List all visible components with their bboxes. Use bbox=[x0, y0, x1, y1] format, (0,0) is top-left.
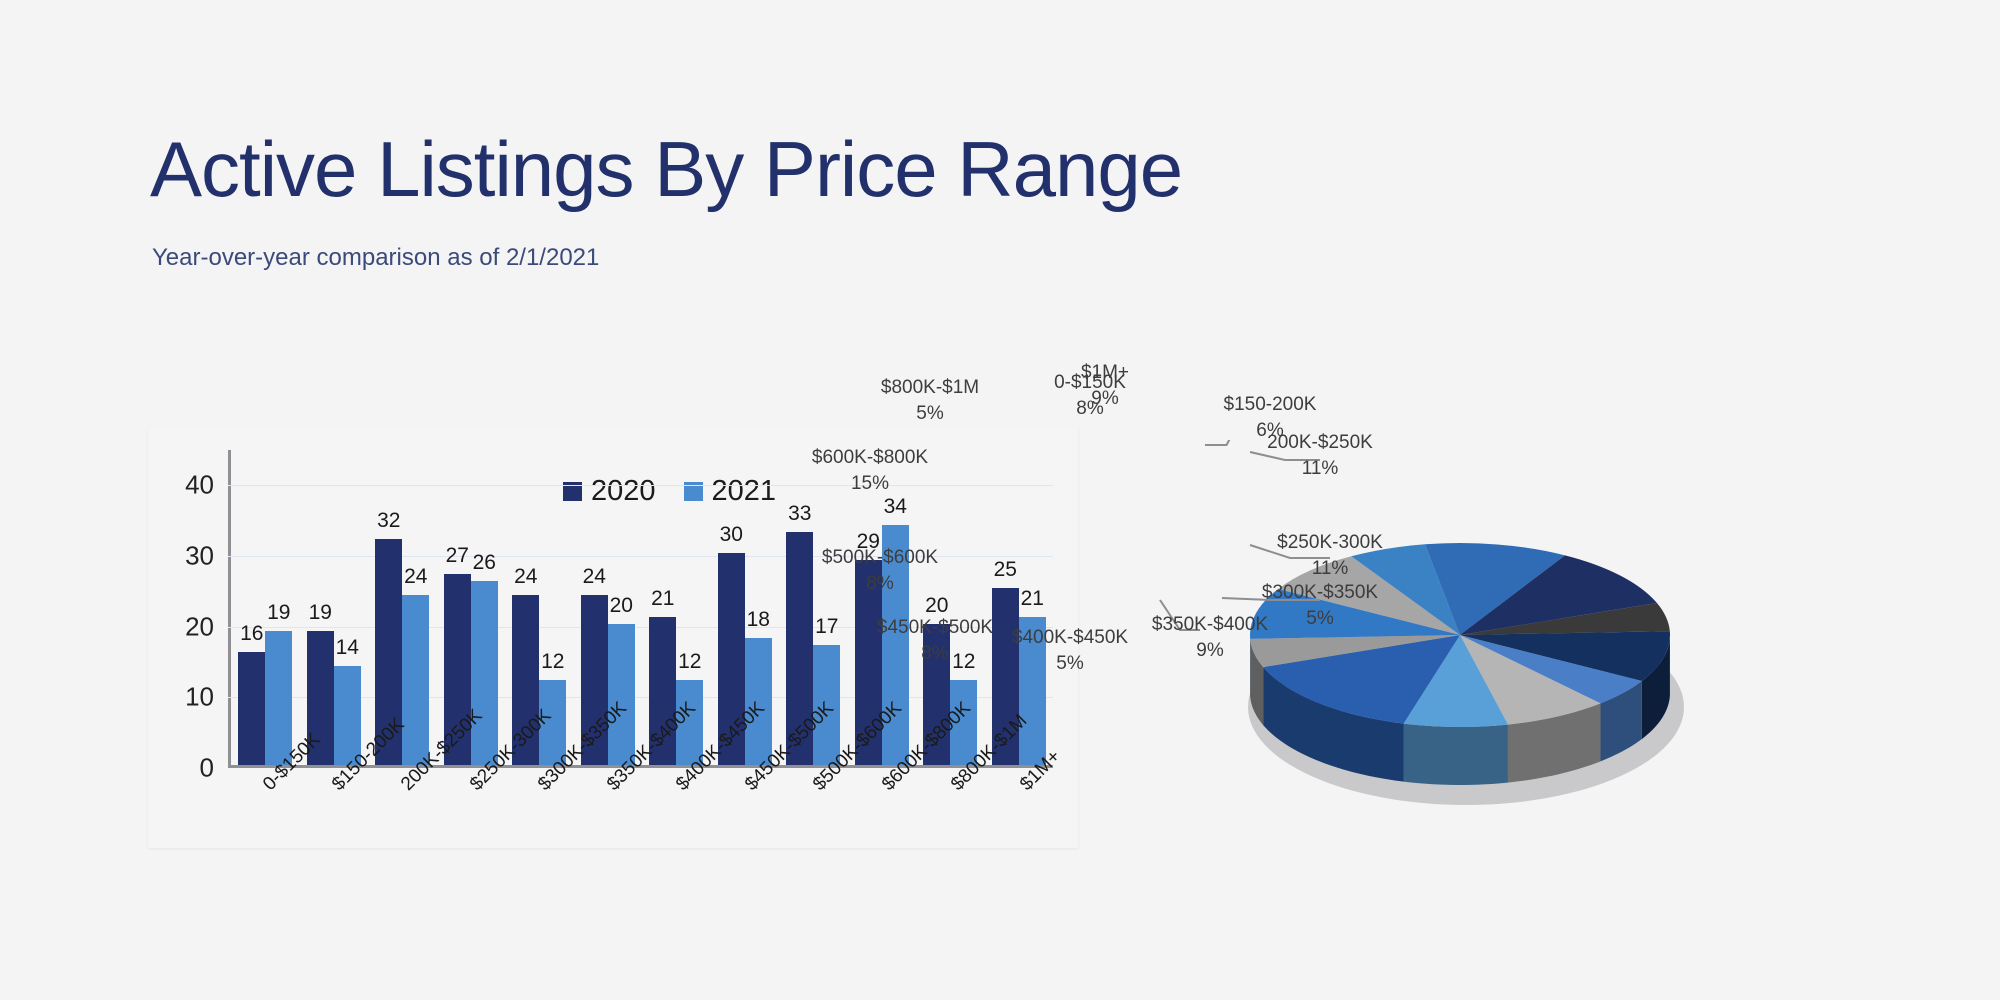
x-axis-label-cell: $150-200K bbox=[300, 776, 369, 896]
bar-groups: 1619191432242726241224202112301833172934… bbox=[231, 450, 1053, 765]
bar-rect bbox=[402, 595, 429, 765]
pie-slice-label-name: $800K-$1M bbox=[881, 375, 979, 401]
pie-slice-label: $300K-$350K5% bbox=[1262, 580, 1378, 631]
bar-value-label: 12 bbox=[541, 650, 564, 674]
pie-slice-label-name: $500K-$600K bbox=[822, 545, 938, 571]
bar-group: 3224 bbox=[368, 450, 437, 765]
bar-rect bbox=[265, 631, 292, 765]
pie-slice-label: $350K-$400K9% bbox=[1152, 612, 1268, 663]
bar-group: 1619 bbox=[231, 450, 300, 765]
pie-slice-label-name: $1M+ bbox=[1081, 360, 1129, 386]
bar-group: 1914 bbox=[300, 450, 369, 765]
bar-rect bbox=[471, 581, 498, 765]
bar-value-label: 27 bbox=[446, 544, 469, 568]
slide-canvas: Active Listings By Price Range Year-over… bbox=[0, 0, 2000, 1000]
pie-slice-label: $450K-$500K8% bbox=[877, 615, 993, 666]
pie-slice-label-name: 200K-$250K bbox=[1267, 430, 1373, 456]
pie-slice-label-name: $450K-$500K bbox=[877, 615, 993, 641]
bar-2021[interactable]: 19 bbox=[265, 450, 292, 765]
pie-slice-label-value: 15% bbox=[812, 471, 928, 497]
bar-value-label: 12 bbox=[678, 650, 701, 674]
pie-slice-label-name: $350K-$400K bbox=[1152, 612, 1268, 638]
bar-rect bbox=[608, 624, 635, 765]
x-axis-label-cell: $800K-$1M bbox=[919, 776, 988, 896]
pie-slice-label-value: 5% bbox=[1262, 606, 1378, 632]
x-axis-label-cell: $400K-$450K bbox=[644, 776, 713, 896]
x-axis-label-cell: $350K-$400K bbox=[575, 776, 644, 896]
bar-value-label: 17 bbox=[815, 615, 838, 639]
bar-2021[interactable]: 24 bbox=[402, 450, 429, 765]
page-title: Active Listings By Price Range bbox=[150, 130, 1182, 208]
bar-value-label: 34 bbox=[884, 495, 907, 519]
pie-slice-label-value: 5% bbox=[881, 401, 979, 427]
bar-value-label: 24 bbox=[583, 565, 606, 589]
bar-value-label: 24 bbox=[514, 565, 537, 589]
bar-value-label: 14 bbox=[336, 636, 359, 660]
pie-slice-label-name: $300K-$350K bbox=[1262, 580, 1378, 606]
bar-value-label: 19 bbox=[267, 601, 290, 625]
pie-slice-label-value: 9% bbox=[1081, 386, 1129, 412]
y-axis-tick-label: 20 bbox=[185, 611, 214, 642]
pie-slice-label-value: 9% bbox=[1152, 638, 1268, 664]
pie-slice-side bbox=[1404, 724, 1508, 785]
pie-slice-label: 200K-$250K11% bbox=[1267, 430, 1373, 481]
bar-2021[interactable]: 14 bbox=[334, 450, 361, 765]
pie-slice-label: $800K-$1M5% bbox=[881, 375, 979, 426]
pie-slice-label: $600K-$800K15% bbox=[812, 445, 928, 496]
pie-slice-label-name: $400K-$450K bbox=[1012, 625, 1128, 651]
pie-slice-label-value: 5% bbox=[1012, 651, 1128, 677]
bar-value-label: 32 bbox=[377, 509, 400, 533]
x-axis-label-cell: $600K-$800K bbox=[850, 776, 919, 896]
pie-slice-label-value: 11% bbox=[1267, 456, 1373, 482]
x-axis-label-cell: $1M+ bbox=[987, 776, 1056, 896]
x-axis-label-cell: 0-$150K bbox=[231, 776, 300, 896]
bar-value-label: 24 bbox=[404, 565, 427, 589]
bar-2020[interactable]: 16 bbox=[238, 450, 265, 765]
pie-slice-label-name: $600K-$800K bbox=[812, 445, 928, 471]
bar-2020[interactable]: 19 bbox=[307, 450, 334, 765]
bar-value-label: 18 bbox=[747, 608, 770, 632]
pie-slice-label-value: 11% bbox=[1277, 556, 1383, 582]
y-axis-tick-label: 40 bbox=[185, 470, 214, 501]
bar-rect bbox=[238, 652, 265, 765]
y-axis-tick-label: 0 bbox=[200, 753, 214, 784]
pie-slice-label-value: 8% bbox=[822, 571, 938, 597]
bar-value-label: 30 bbox=[720, 523, 743, 547]
bar-value-label: 21 bbox=[1021, 587, 1044, 611]
pie-slice-label-name: $250K-300K bbox=[1277, 530, 1383, 556]
pie-slice-label-value: 8% bbox=[877, 641, 993, 667]
pie-slice-label: $1M+9% bbox=[1081, 360, 1129, 411]
y-axis-tick-label: 30 bbox=[185, 541, 214, 572]
bar-value-label: 26 bbox=[473, 551, 496, 575]
bar-value-label: 19 bbox=[309, 601, 332, 625]
pie-slice-label-name: $150-200K bbox=[1224, 392, 1317, 418]
bar-value-label: 20 bbox=[610, 594, 633, 618]
x-axis-label-cell: $450K-$500K bbox=[712, 776, 781, 896]
x-axis-labels: 0-$150K$150-200K200K-$250K$250K-300K$300… bbox=[231, 776, 1056, 896]
page-subtitle: Year-over-year comparison as of 2/1/2021 bbox=[152, 244, 599, 272]
x-axis-label-cell: 200K-$250K bbox=[369, 776, 438, 896]
pie-slice-label: $500K-$600K8% bbox=[822, 545, 938, 596]
bar-plot-area: 010203040 161919143224272624122420211230… bbox=[228, 450, 1053, 768]
x-axis-label-cell: $250K-300K bbox=[437, 776, 506, 896]
bar-value-label: 21 bbox=[651, 587, 674, 611]
bar-value-label: 16 bbox=[240, 622, 263, 646]
y-axis-tick-label: 10 bbox=[185, 682, 214, 713]
bar-value-label: 33 bbox=[788, 502, 811, 526]
pie-slice-label: $250K-300K11% bbox=[1277, 530, 1383, 581]
pie-chart-panel: 0-$150K8%$150-200K6%200K-$250K11%$250K-3… bbox=[1080, 440, 1960, 860]
x-axis-label-cell: $300K-$350K bbox=[506, 776, 575, 896]
pie-slice-label: $400K-$450K5% bbox=[1012, 625, 1128, 676]
x-axis-label-cell: $500K-$600K bbox=[781, 776, 850, 896]
bar-value-label: 25 bbox=[994, 558, 1017, 582]
